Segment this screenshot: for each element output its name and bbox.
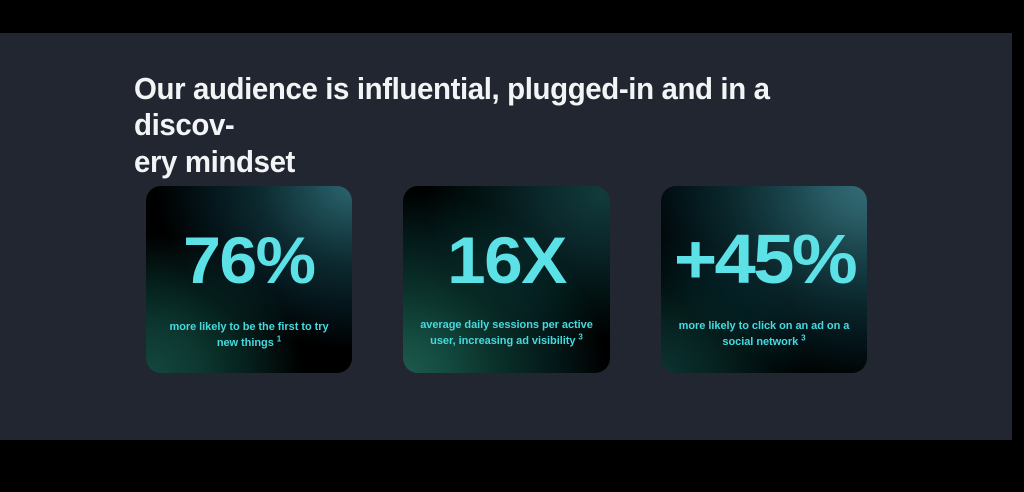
stat-caption: average daily sessions per active user, … [411, 318, 603, 349]
stat-footnote-marker: 1 [277, 334, 281, 343]
letterbox-right-strip [1012, 33, 1024, 440]
stat-value: 76% [183, 227, 314, 293]
stat-footnote-marker: 3 [801, 333, 805, 342]
stat-card-first-to-try: 76% more likely to be the first to try n… [146, 186, 352, 373]
stat-caption: more likely to be the first to try new t… [158, 320, 340, 351]
stat-value: 16X [447, 227, 566, 293]
presentation-slide: Our audience is influential, plugged-in … [0, 33, 1012, 440]
stats-card-row: 76% more likely to be the first to try n… [0, 33, 1012, 440]
stat-caption-text: more likely to click on an ad on a socia… [679, 320, 850, 348]
stat-caption-text: average daily sessions per active user, … [420, 319, 593, 347]
stat-card-ad-clicks: +45% more likely to click on an ad on a … [661, 186, 867, 373]
stat-caption-text: more likely to be the first to try new t… [169, 321, 328, 349]
slide-letterbox-frame: Our audience is influential, plugged-in … [0, 0, 1024, 492]
stat-card-daily-sessions: 16X average daily sessions per active us… [403, 186, 610, 373]
stat-footnote-marker: 3 [578, 332, 582, 341]
stat-caption: more likely to click on an ad on a socia… [671, 319, 857, 350]
stat-value: +45% [673, 224, 854, 294]
